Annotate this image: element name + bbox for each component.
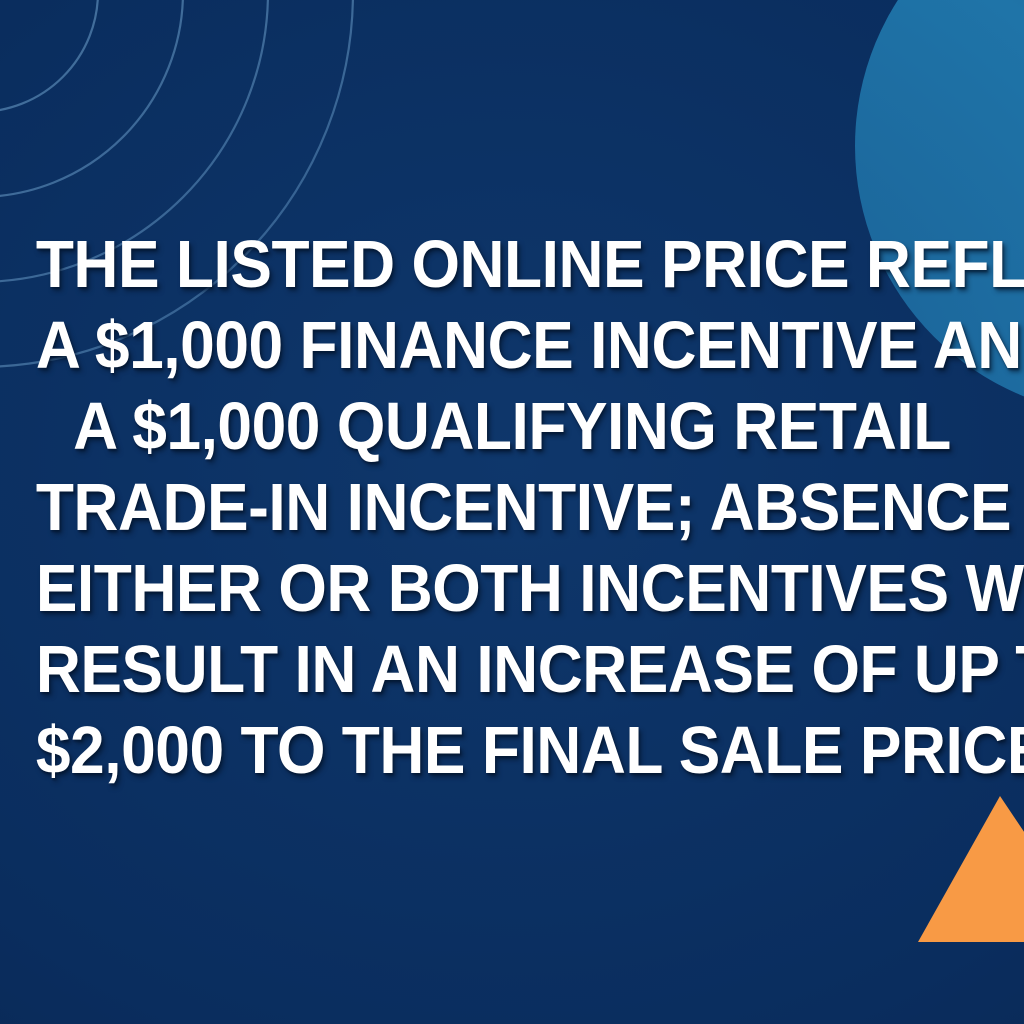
- page-title: THE LISTED ONLINE PRICE REFLECTS A $1,00…: [36, 224, 988, 791]
- headline-line-7: $2,000 TO THE FINAL SALE PRICE.: [36, 710, 988, 791]
- headline-line-3: A $1,000 QUALIFYING RETAIL: [36, 386, 988, 467]
- arc-ring-1: [0, 0, 98, 112]
- headline-line-1: THE LISTED ONLINE PRICE REFLECTS: [36, 224, 988, 305]
- headline-line-2: A $1,000 FINANCE INCENTIVE AND: [36, 305, 988, 386]
- accent-triangle: [918, 796, 1024, 942]
- headline-line-5: EITHER OR BOTH INCENTIVES WILL: [36, 548, 988, 629]
- promo-graphic-canvas: THE LISTED ONLINE PRICE REFLECTS A $1,00…: [0, 0, 1024, 1024]
- headline-line-6: RESULT IN AN INCREASE OF UP TO: [36, 629, 988, 710]
- headline-line-4: TRADE-IN INCENTIVE; ABSENCE OF: [36, 467, 988, 548]
